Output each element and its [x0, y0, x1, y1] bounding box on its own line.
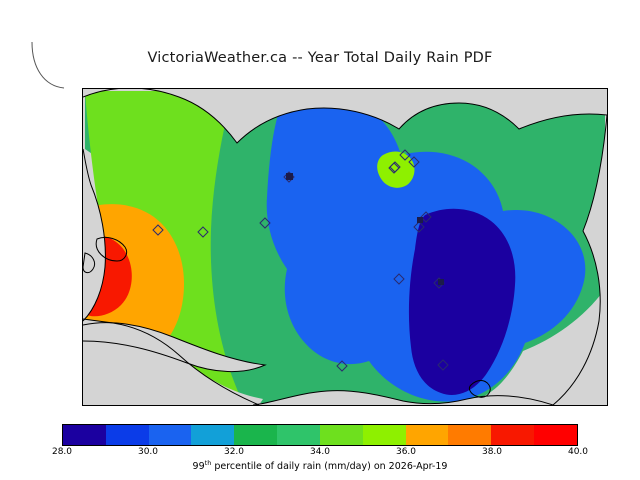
colorbar-segment-4: [234, 425, 277, 445]
map-contour-svg: [83, 89, 607, 405]
colorbar-segment-7: [363, 425, 406, 445]
colorbar-tick: 34.0: [310, 447, 330, 457]
colorbar-tick: 40.0: [568, 447, 588, 457]
colorbar-tick: 30.0: [138, 447, 158, 457]
screenshot-root: VictoriaWeather.ca -- Year Total Daily R…: [0, 0, 640, 480]
colorbar-label-prefix: 99: [193, 461, 205, 472]
colorbar-axis-label: 99th percentile of daily rain (mm/day) o…: [0, 459, 640, 472]
colorbar-tick: 32.0: [224, 447, 244, 457]
colorbar-segment-10: [491, 425, 534, 445]
station-dot: [438, 279, 444, 285]
page-title: VictoriaWeather.ca -- Year Total Daily R…: [0, 50, 640, 66]
colorbar-segment-11: [534, 425, 577, 445]
colorbar-tick: 36.0: [396, 447, 416, 457]
colorbar: [62, 424, 578, 446]
colorbar-tick: 28.0: [52, 447, 72, 457]
colorbar-label-suffix: percentile of daily rain (mm/day) on 202…: [211, 461, 447, 472]
colorbar-segment-8: [406, 425, 449, 445]
map-plot-area[interactable]: [82, 88, 608, 406]
colorbar-segment-2: [149, 425, 192, 445]
colorbar-segment-0: [63, 425, 106, 445]
colorbar-segment-9: [448, 425, 491, 445]
colorbar-tick-labels: 28.030.032.034.036.038.040.0: [0, 447, 640, 459]
colorbar-segment-3: [191, 425, 234, 445]
station-dot: [286, 173, 293, 180]
station-dot: [417, 217, 423, 223]
colorbar-segment-5: [277, 425, 320, 445]
colorbar-tick: 38.0: [482, 447, 502, 457]
decorative-arc: [30, 38, 90, 90]
colorbar-segment-1: [106, 425, 149, 445]
colorbar-segment-6: [320, 425, 363, 445]
